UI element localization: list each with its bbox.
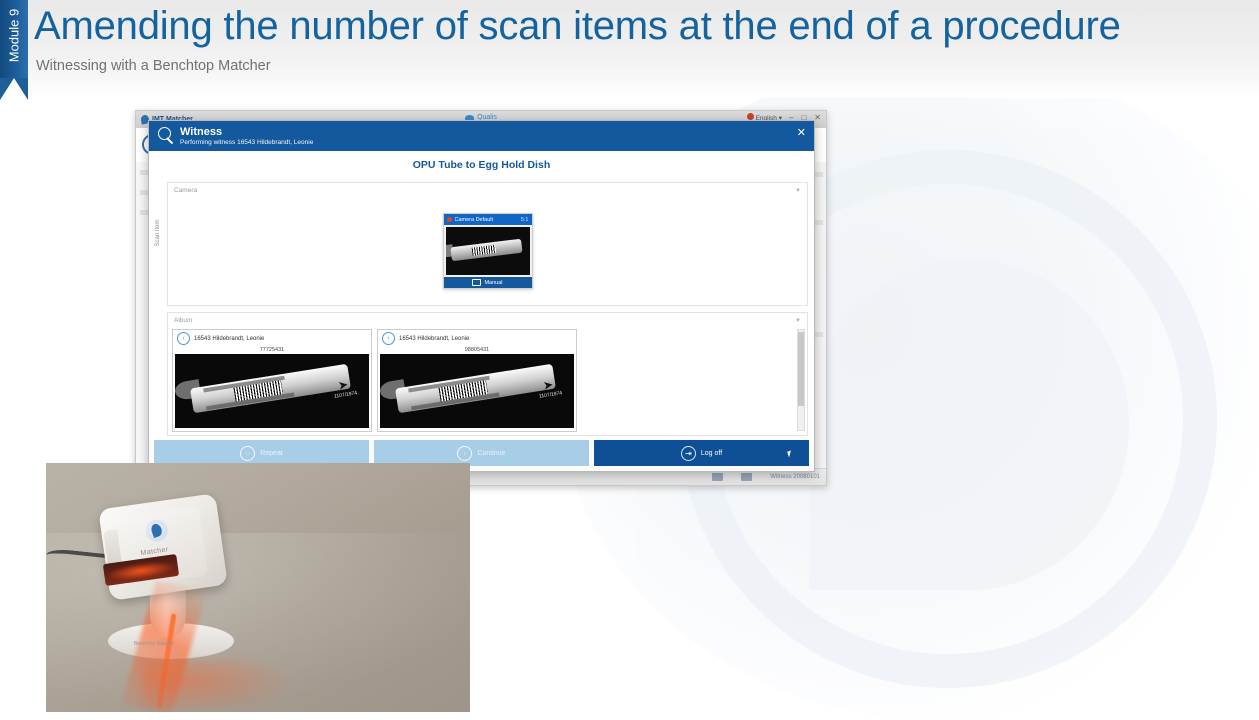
- witness-dialog-titlebar: Witness Performing witness 16543 Hildebr…: [149, 121, 814, 151]
- repeat-icon: ○: [240, 446, 255, 461]
- tube-shape: [190, 364, 351, 414]
- camera-manual-label: Manual: [484, 280, 502, 286]
- database-icon: [741, 473, 752, 481]
- camera-widget-header: Camera Default 5:1: [444, 214, 532, 225]
- witness-body: Scan Item Camera ▼ Camera Default 5:1: [149, 178, 814, 440]
- scan-card-back-icon[interactable]: ‹: [382, 332, 395, 345]
- module-tab: Module 9: [0, 0, 28, 78]
- session-status: Witness 20080101: [770, 474, 820, 480]
- scan-image-code-label: 1107/1974: [334, 391, 358, 401]
- scan-card-number: 77725431: [173, 347, 371, 354]
- witness-dialog-title: Witness: [180, 126, 313, 139]
- scan-card-patient-label: 16543 Hildebrandt, Leonie: [399, 336, 469, 342]
- scan-card-patient-label: 16543 Hildebrandt, Leonie: [194, 336, 264, 342]
- scan-card-image: ➤ 1107/1974: [380, 354, 574, 428]
- scanner-base-label: Benchtop Matcher: [134, 641, 175, 647]
- album-scrollbar[interactable]: [797, 329, 805, 431]
- log-off-button-label: Log off: [701, 450, 722, 457]
- module-tab-pointer: [0, 78, 28, 100]
- statusbar-right: Witness 20080101: [712, 473, 820, 481]
- manual-capture-icon: [472, 279, 481, 286]
- scan-image-code-label: 1107/1974: [539, 391, 563, 401]
- module-tab-label: Module 9: [7, 0, 22, 72]
- mouse-cursor: [787, 451, 793, 458]
- camera-live-view: [446, 227, 530, 275]
- app-right-placeholder: [814, 172, 823, 177]
- camera-ratio-label: 5:1: [521, 217, 529, 223]
- witness-magnifier-icon: [156, 126, 176, 146]
- page-title: Amending the number of scan items at the…: [34, 4, 1234, 49]
- app-right-placeholder: [814, 332, 823, 337]
- page-subtitle: Witnessing with a Benchtop Matcher: [36, 58, 271, 74]
- log-off-button[interactable]: ⇥ Log off: [594, 440, 809, 466]
- album-panel-collapse-icon[interactable]: ▼: [795, 318, 801, 324]
- camera-widget[interactable]: Camera Default 5:1 Manual: [443, 213, 533, 289]
- album-panel: Album ▼ ‹ 16543 Hildebrandt, Leonie 7772…: [167, 312, 808, 436]
- camera-panel-collapse-icon[interactable]: ▼: [795, 188, 801, 194]
- procedure-heading: OPU Tube to Egg Hold Dish: [149, 151, 814, 178]
- benchtop-matcher-photo: Matcher Benchtop Matcher: [46, 463, 470, 712]
- camera-panel: Camera ▼ Camera Default 5:1: [167, 182, 808, 306]
- witness-dialog: Witness Performing witness 16543 Hildebr…: [148, 120, 815, 472]
- scan-card-back-icon[interactable]: ‹: [177, 332, 190, 345]
- continue-button-label: Continue: [477, 450, 505, 457]
- tube-barcode-shape: [450, 239, 522, 262]
- logout-icon: ⇥: [681, 446, 696, 461]
- laser-floor-reflection: [142, 659, 292, 712]
- scan-card-image: ➤ 1107/1974: [175, 354, 369, 428]
- chevron-right-icon: ›: [457, 446, 472, 461]
- scan-card-header: ‹ 16543 Hildebrandt, Leonie: [173, 330, 371, 347]
- slide-header: Amending the number of scan items at the…: [0, 0, 1259, 98]
- scan-card[interactable]: ‹ 16543 Hildebrandt, Leonie 77725431 ➤ 1…: [172, 329, 372, 432]
- scan-item-rail-label: Scan Item: [155, 211, 161, 255]
- camera-manual-button[interactable]: Manual: [444, 277, 532, 288]
- tube-shape: [395, 364, 556, 414]
- camera-stage: Camera Default 5:1 Manual: [168, 197, 807, 305]
- app-right-placeholder: [814, 220, 823, 225]
- scan-card[interactable]: ‹ 16543 Hildebrandt, Leonie 98805431 ➤ 1…: [377, 329, 577, 432]
- scan-item-rail: Scan Item: [149, 178, 167, 440]
- album-stage: ‹ 16543 Hildebrandt, Leonie 77725431 ➤ 1…: [168, 326, 807, 435]
- printer-icon: [712, 473, 723, 481]
- camera-panel-label: Camera: [174, 187, 197, 194]
- language-flag-icon: [747, 113, 754, 120]
- album-panel-label: Album: [174, 317, 192, 324]
- repeat-button-label: Repeat: [260, 450, 283, 457]
- scan-card-number: 98805431: [378, 347, 576, 354]
- scan-card-header: ‹ 16543 Hildebrandt, Leonie: [378, 330, 576, 347]
- album-scrollbar-thumb[interactable]: [798, 332, 804, 406]
- witness-close-icon[interactable]: ✕: [797, 128, 806, 139]
- camera-name-label: Camera Default: [455, 217, 518, 223]
- performing-witness-label: Performing witness 16543 Hildebrandt, Le…: [180, 139, 313, 146]
- record-indicator-icon: [447, 217, 452, 222]
